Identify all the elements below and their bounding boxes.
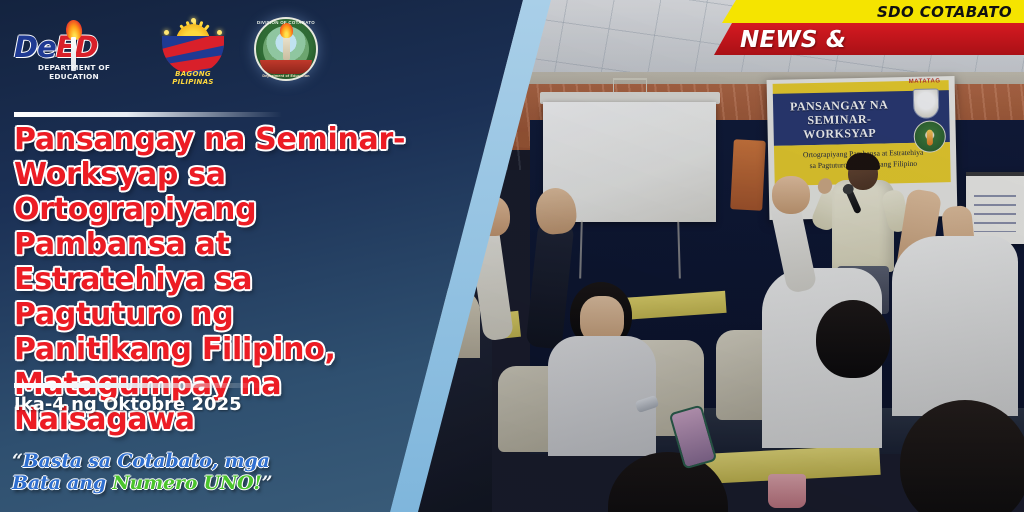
logo-row: DeED DEPARTMENT OF EDUCATION [14, 16, 318, 82]
page-title: Pansangay na Seminar-Worksyap sa Ortogra… [14, 122, 414, 437]
divider-middle [14, 383, 264, 388]
deped-subtitle: DEPARTMENT OF EDUCATION [15, 63, 133, 81]
banner-title-bar: NEWS & INFORMATION [714, 23, 1024, 55]
flag-bowl-icon [162, 36, 224, 74]
seal-top-text: DIVISION OF COTABATO [254, 20, 318, 25]
star-icon-top [191, 18, 196, 23]
divider-top [14, 112, 282, 117]
tagline-close-quote: ” [262, 472, 273, 494]
bagong-pilipinas-logo: BAGONG PILIPINAS [154, 16, 232, 82]
publish-date: Ika-4 ng Oktobre 2025 [14, 394, 242, 415]
banner-kicker-bar: SDO COTABATO [722, 0, 1024, 23]
torch-seal-icon [283, 34, 290, 60]
star-icon-right [217, 30, 222, 35]
deped-logo: DeED DEPARTMENT OF EDUCATION [14, 18, 132, 80]
banner-kicker-text: SDO COTABATO [877, 3, 1012, 21]
deped-wordmark-de: De [14, 30, 56, 64]
division-tagline: “Basta sa Cotabato, mga Bata ang Numero … [12, 450, 282, 494]
star-icon-left [164, 30, 169, 35]
tagline-open-quote: “ [12, 450, 23, 472]
seal-bottom-text: Department of Education [254, 74, 318, 78]
news-information-card: PANSANGAY NA SEMINAR-WORKSYAP Ortograpiy… [0, 0, 1024, 512]
division-of-cotabato-seal: DIVISION OF COTABATO Department of Educa… [254, 17, 318, 81]
tagline-green-text: Numero UNO! [112, 472, 261, 494]
seal-ribbon [260, 60, 312, 74]
bagong-pilipinas-label: BAGONG PILIPINAS [154, 70, 232, 86]
